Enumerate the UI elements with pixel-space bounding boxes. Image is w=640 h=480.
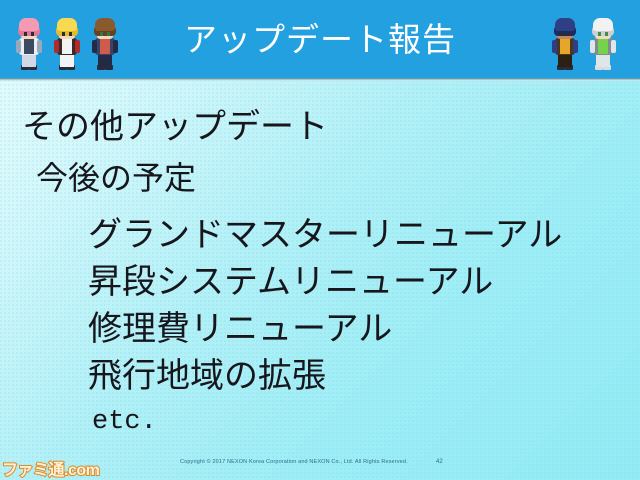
outline-item-grandmaster: グランドマスターリニューアル <box>88 218 562 252</box>
page-title: アップデート報告 <box>0 0 640 78</box>
outline-item-promotion-system: 昇段システムリニューアル <box>88 265 493 299</box>
sprite-group-right <box>550 9 618 71</box>
outline-heading-2: 今後の予定 <box>36 162 196 194</box>
slide-header-band: アップデート報告 <box>0 0 640 78</box>
outline-item-repair-cost: 修理費リニューアル <box>88 312 392 346</box>
sprite-white-haired-mage <box>588 13 618 71</box>
outline-item-etc: etc. <box>92 409 157 436</box>
sprite-dark-blue-haired-ranger <box>550 13 580 71</box>
slide-canvas: アップデート報告 <box>0 0 640 480</box>
outline-item-flight-area: 飛行地域の拡張 <box>88 359 326 393</box>
slide-content: その他アップデート 今後の予定 グランドマスターリニューアル 昇段システムリニュ… <box>0 78 640 480</box>
famitsu-watermark-logo: ファミ通.com <box>2 456 99 480</box>
copyright-notice: Copyright © 2017 NEXON Korea Corporation… <box>180 459 408 465</box>
page-number: 42 <box>436 459 443 465</box>
outline-heading-1: その他アップデート <box>22 110 328 144</box>
